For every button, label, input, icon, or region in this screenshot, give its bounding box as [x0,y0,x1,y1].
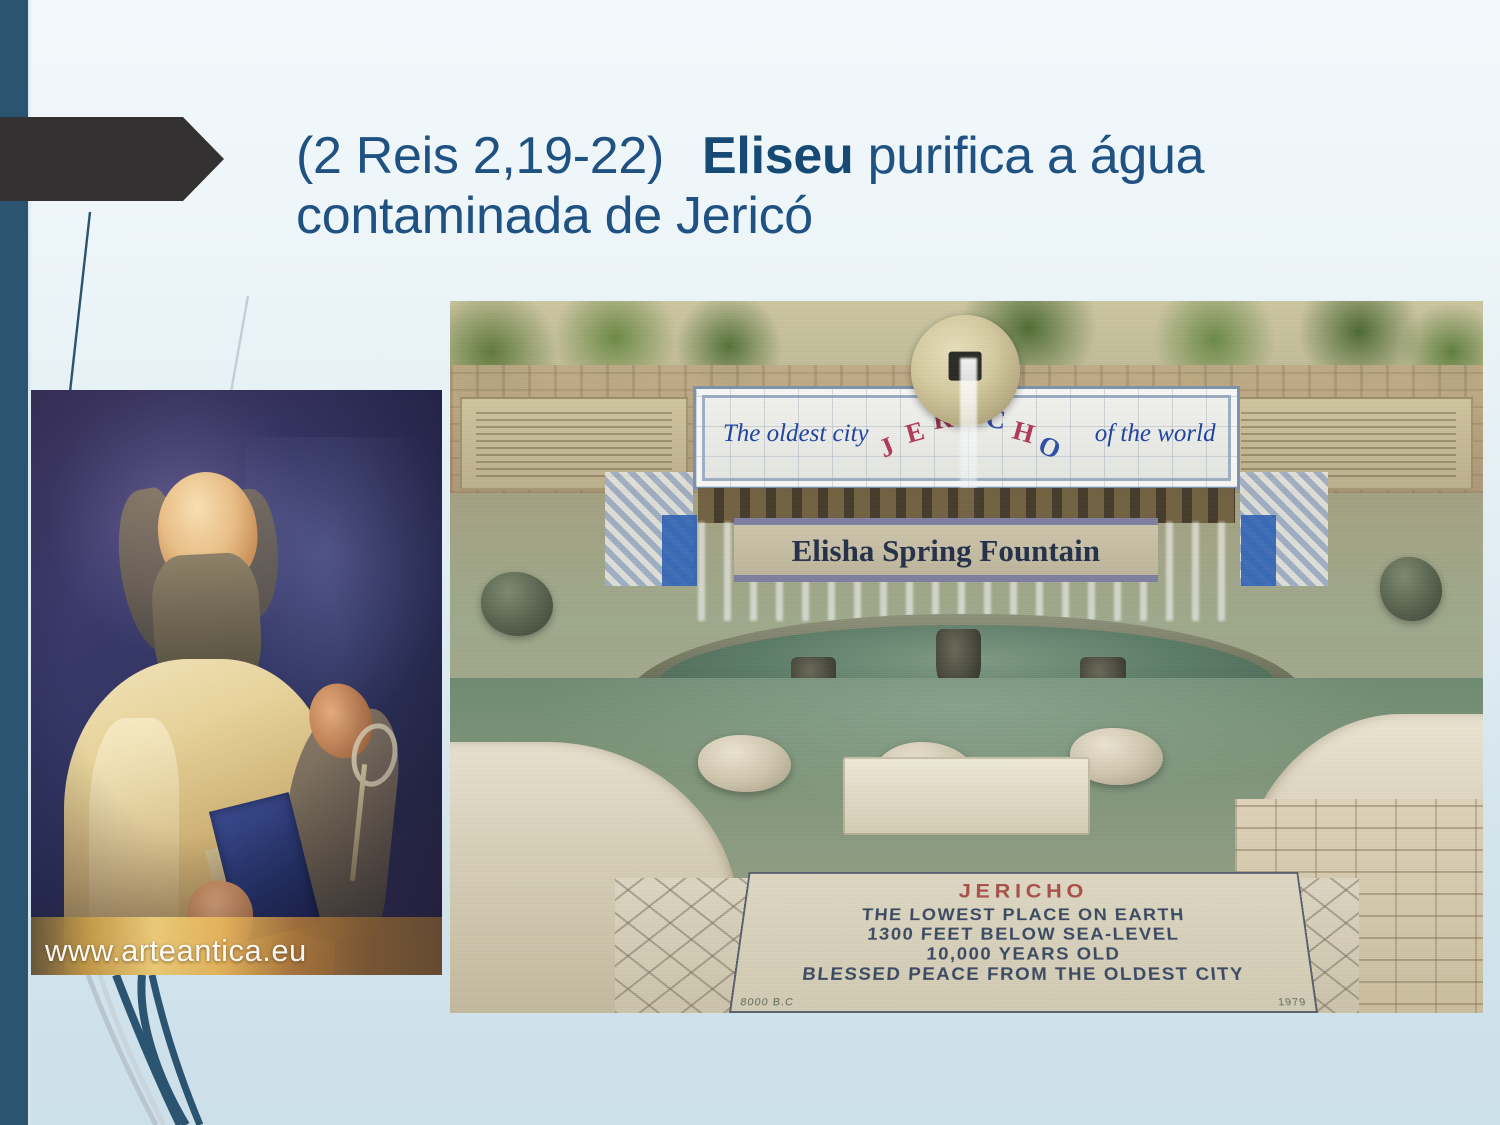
mosaic-line-3: 10,000 YEARS OLD [738,945,1310,965]
photo-blue-panel-left [662,515,697,586]
mosaic-line-4: BLESSED PEACE FROM THE OLDEST CITY [735,966,1312,986]
photo-rock-left [698,735,791,792]
photo-rock-dark-left [481,572,553,636]
title-prophet-name: Eliseu [702,127,853,185]
photo-sign-text-left: The oldest city [723,420,869,448]
arrow-banner-shape [0,117,224,201]
painting-watermark-text: www.arteantica.eu [45,933,307,969]
decorative-lines-bottom [60,975,290,1125]
sign-arc-letter: H [1009,414,1037,449]
slide-title: (2 Reis 2,19-22)Eliseu purifica a água c… [296,126,1326,247]
mosaic-line-2: 1300 FEET BELOW SEA-LEVEL [740,926,1306,946]
photo-fountain-name-text: Elisha Spring Fountain [792,533,1100,569]
photo-mosaic-plaque: JERICHO THE LOWEST PLACE ON EARTH 1300 F… [729,873,1318,1013]
photo-blue-panel-right [1241,515,1276,586]
title-rest: purifica a água [853,127,1204,185]
photo-rock-dark-right [1380,557,1442,621]
title-line-two: contaminada de Jericó [296,187,813,245]
photo-fountain-name-band: Elisha Spring Fountain [734,518,1158,582]
mosaic-corner-right: 1979 [1277,997,1307,1008]
photo-stone-blocks [843,757,1091,835]
title-reference: (2 Reis 2,19-22) [296,127,664,185]
mosaic-corner-left: 8000 B.C [740,997,795,1008]
sign-arc-letter: E [903,415,929,450]
jericho-fountain-photo: The oldest city of the world JERICHO Eli… [450,301,1483,1013]
prophet-painting-image: www.arteantica.eu [31,390,442,975]
painting-vignette [31,390,442,975]
mosaic-title: JERICHO [746,880,1300,903]
decorative-lines-top [0,200,300,400]
mosaic-line-1: THE LOWEST PLACE ON EARTH [743,907,1303,926]
photo-sign-text-right: of the world [1095,420,1216,448]
